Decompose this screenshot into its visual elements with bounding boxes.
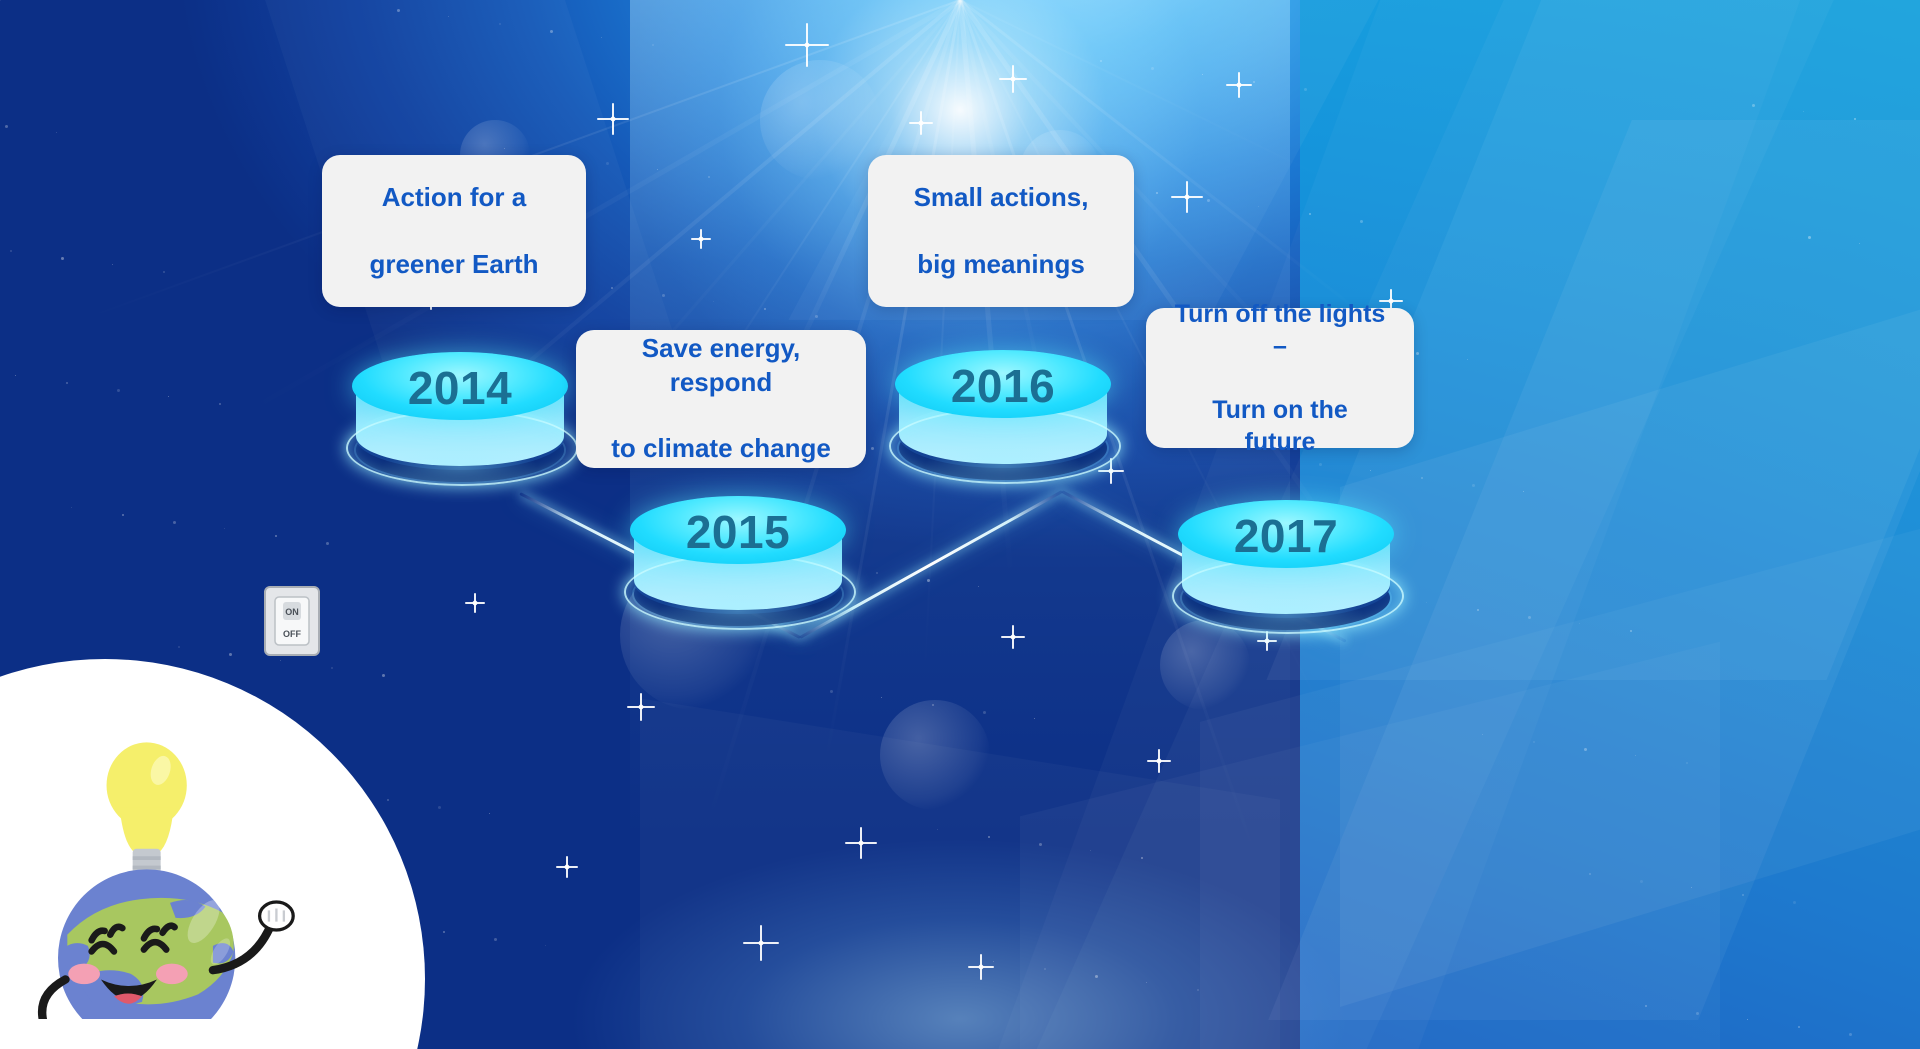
lightbulb-icon (107, 742, 187, 875)
slogan-text-2017: Turn off the lights –Turn on the future (1146, 298, 1414, 458)
slogan-bubble-2016[interactable]: Small actions,big meanings (868, 155, 1134, 307)
slogan-text-2014: Action for agreener Earth (341, 181, 566, 281)
slogan-bubble-2014[interactable]: Action for agreener Earth (322, 155, 586, 307)
slogan-bubble-2017[interactable]: Turn off the lights –Turn on the future (1146, 308, 1414, 448)
milestone-disc-2016[interactable]: 2016 (895, 350, 1111, 500)
milestone-year-label: 2016 (895, 356, 1111, 416)
milestone-year-label: 2015 (630, 502, 846, 562)
blush-right (156, 964, 188, 985)
milestone-disc-2014[interactable]: 2014 (352, 352, 568, 502)
hand-icon (260, 902, 294, 930)
switch-on-label: ON (285, 607, 299, 617)
infographic-canvas: 2014 2015 2016 2017 Action for agreener … (0, 0, 1920, 1049)
milestone-disc-2017[interactable]: 2017 (1178, 500, 1394, 650)
disc-under-glow (1174, 586, 1398, 644)
slogan-bubble-2015[interactable]: Save energy, respondto climate change (576, 330, 866, 468)
milestone-year-label: 2017 (1178, 506, 1394, 566)
slogan-text-2015: Save energy, respondto climate change (576, 332, 866, 465)
disc-under-glow (348, 438, 572, 496)
disc-under-glow (626, 582, 850, 640)
switch-off-label: OFF (283, 629, 301, 639)
milestone-year-label: 2014 (352, 358, 568, 418)
milestone-disc-2015[interactable]: 2015 (630, 496, 846, 646)
slogan-text-2016: Small actions,big meanings (886, 181, 1117, 281)
light-switch-icon[interactable]: ON OFF (263, 585, 321, 657)
disc-under-glow (891, 436, 1115, 494)
earth-mascot (30, 729, 310, 1019)
blush-left (68, 964, 100, 985)
